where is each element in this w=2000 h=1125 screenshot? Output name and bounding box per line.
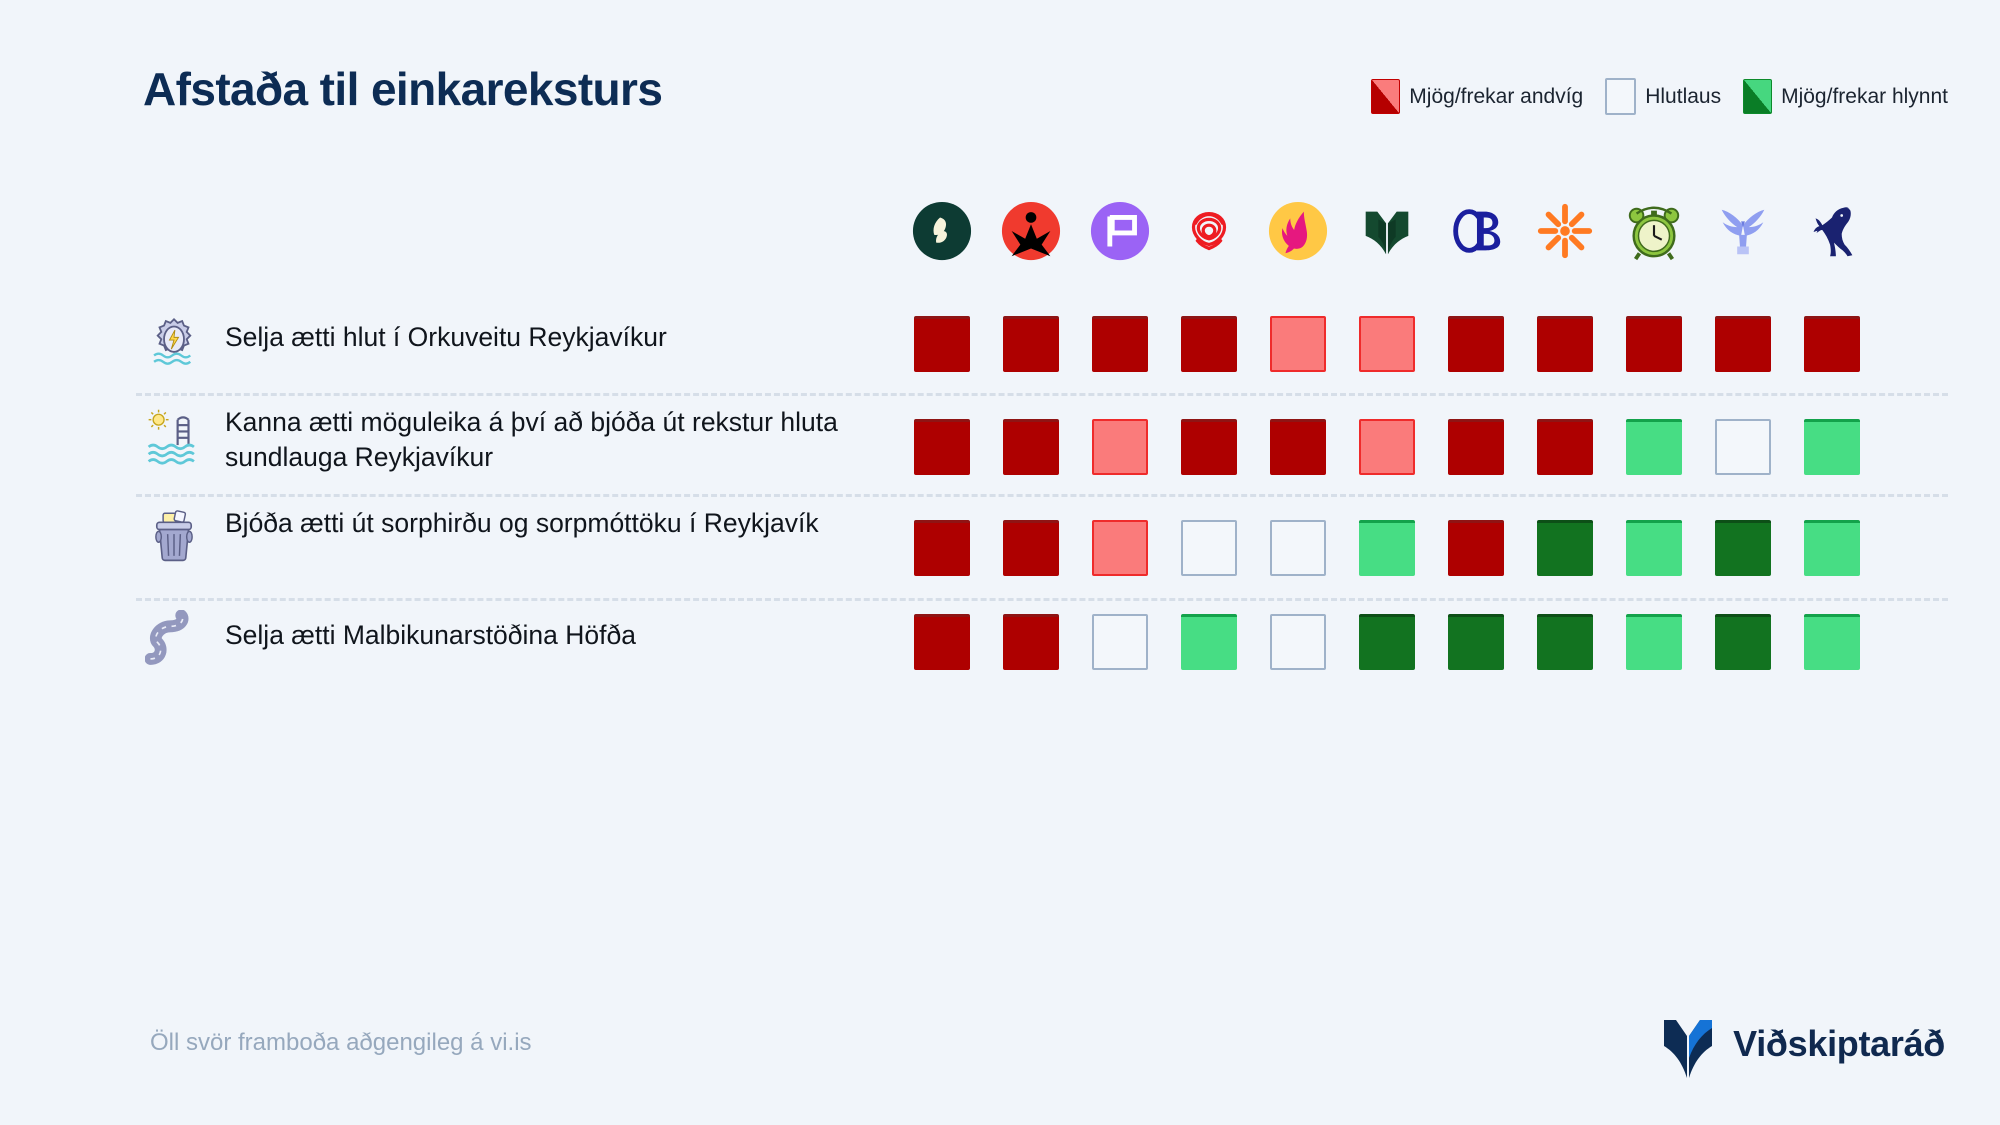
matrix-cell[interactable] [1520,419,1609,475]
stance-swatch [1804,520,1860,576]
stance-swatch [1626,614,1682,670]
party-column-lydraedisflokkurinn [1698,196,1787,266]
matrix-row-label: Selja ætti Malbikunarstöðina Höfða [225,618,865,653]
stance-swatch [1626,316,1682,372]
matrix-cell[interactable] [1787,419,1876,475]
brand-name: Viðskiptaráð [1733,1023,1945,1065]
stance-swatch [1715,316,1771,372]
footer-note: Öll svör framboða aðgengileg á vi.is [150,1029,532,1057]
party-column-abyrg-framtid [1431,196,1520,266]
stance-swatch [1092,316,1148,372]
flag-in-purple-circle-logo [1089,200,1151,262]
matrix-cell[interactable] [1698,419,1787,475]
legend-swatch-for-icon [1743,79,1772,114]
stance-swatch [1715,614,1771,670]
star-person-in-red-circle-logo [1000,200,1062,262]
stance-swatch [1181,614,1237,670]
winding-road-icon [143,610,205,675]
matrix-cell[interactable] [1164,316,1253,372]
stance-swatch [1537,614,1593,670]
legend-swatch-neutral-icon [1605,78,1636,115]
party-column-sjalfstaedisflokkurinn [1609,196,1698,266]
stance-swatch [1359,419,1415,475]
matrix-cell[interactable] [1787,316,1876,372]
stance-swatch [914,614,970,670]
stance-swatch [1270,614,1326,670]
red-rose-logo [1178,200,1240,262]
stance-swatch [1715,520,1771,576]
stance-swatch [1448,316,1504,372]
matrix-row-label: Selja ætti hlut í Orkuveitu Reykjavíkur [225,320,865,355]
stance-swatch [1092,614,1148,670]
party-column-samfylkingin [1164,196,1253,266]
matrix-cell[interactable] [1609,614,1698,670]
dark-green-open-book-logo [1356,200,1418,262]
legend-item-against: Mjög/frekar andvíg [1371,79,1583,114]
stance-swatch [1626,520,1682,576]
stance-swatch [1003,520,1059,576]
matrix-cell[interactable] [1075,520,1164,576]
legend-label-for: Mjög/frekar hlynnt [1781,85,1948,109]
stance-swatch [1092,520,1148,576]
matrix-cell[interactable] [1075,419,1164,475]
matrix-cell[interactable] [986,614,1075,670]
party-column-vidreisn [1342,196,1431,266]
hydro-power-plant-icon [143,312,205,377]
matrix-cell[interactable] [1431,520,1520,576]
matrix-cell[interactable] [1431,316,1520,372]
header: Afstaða til einkareksturs Mjög/frekar an… [0,0,2000,150]
matrix-cell[interactable] [1431,419,1520,475]
legend-label-neutral: Hlutlaus [1645,85,1721,109]
matrix-cell[interactable] [1253,614,1342,670]
matrix-cell[interactable] [1342,614,1431,670]
party-column-vinstri-graen [897,196,986,266]
swimming-pool-icon [143,407,205,472]
matrix-cell[interactable] [1342,316,1431,372]
stance-swatch [1270,316,1326,372]
matrix-cell[interactable] [1520,520,1609,576]
stance-swatch [1804,419,1860,475]
matrix-cell[interactable] [897,419,986,475]
matrix-row-label: Kanna ætti möguleika á því að bjóða út r… [225,405,865,475]
matrix-cell[interactable] [897,614,986,670]
party-column-framsokn [1520,196,1609,266]
matrix-row-swatches [897,419,1876,475]
party-column-flokkur-folksins [1253,196,1342,266]
stance-swatch [1448,419,1504,475]
navy-rearing-horse-logo [1801,200,1863,262]
matrix-cell[interactable] [897,520,986,576]
matrix-cell[interactable] [1431,614,1520,670]
stance-swatch [1181,316,1237,372]
row-divider [136,393,1948,398]
stance-swatch [1537,316,1593,372]
stance-swatch [1537,520,1593,576]
matrix-cell[interactable] [1698,520,1787,576]
vidskiptarad-leaf-icon [1658,1008,1718,1080]
matrix-cell[interactable] [1075,614,1164,670]
matrix-cell[interactable] [1520,614,1609,670]
stance-swatch [1804,316,1860,372]
matrix-row-label: Bjóða ætti út sorphirðu og sorpmóttöku í… [225,506,865,541]
stance-swatch [1537,419,1593,475]
legend-swatch-against-icon [1371,79,1400,114]
legend-item-neutral: Hlutlaus [1605,78,1721,115]
stance-swatch [1003,419,1059,475]
matrix-cell[interactable] [1787,614,1876,670]
matrix-cell[interactable] [1164,520,1253,576]
legend: Mjög/frekar andvíg Hlutlaus Mjög/frekar … [1371,78,1948,115]
blue-falcon-logo [1712,200,1774,262]
matrix-cell[interactable] [1164,419,1253,475]
matrix-row-swatches [897,614,1876,670]
matrix-cell[interactable] [986,520,1075,576]
party-column-sosialistaflokkurinn [986,196,1075,266]
trash-bin-icon [143,506,205,571]
leaf-in-dark-green-circle-logo [911,200,973,262]
matrix-cell[interactable] [1342,419,1431,475]
matrix-cell[interactable] [1075,316,1164,372]
matrix-cell[interactable] [1253,520,1342,576]
matrix-cell[interactable] [986,419,1075,475]
matrix-cell[interactable] [1520,316,1609,372]
matrix-cell[interactable] [1609,419,1698,475]
stance-swatch [1270,520,1326,576]
stance-swatch [914,419,970,475]
stance-swatch [1270,419,1326,475]
stance-swatch [1448,614,1504,670]
matrix-cell[interactable] [1253,419,1342,475]
stance-swatch [1359,520,1415,576]
stance-swatch [1715,419,1771,475]
matrix-cell[interactable] [1253,316,1342,372]
stance-swatch [1448,520,1504,576]
brand-logo: Viðskiptaráð [1658,1008,1945,1080]
navy-ob-monogram-logo [1445,200,1507,262]
stance-swatch [1003,316,1059,372]
stance-swatch [914,520,970,576]
matrix-cell[interactable] [986,316,1075,372]
legend-label-against: Mjög/frekar andvíg [1409,85,1583,109]
stance-swatch [1181,520,1237,576]
stance-swatch [1092,419,1148,475]
party-column-piratar [1075,196,1164,266]
stance-swatch [1359,316,1415,372]
matrix-row-swatches [897,520,1876,576]
green-alarm-clock-logo [1623,200,1685,262]
stance-swatch [1359,614,1415,670]
orange-asterisk-logo [1534,200,1596,262]
matrix-cell[interactable] [1609,316,1698,372]
party-header-row [897,196,1876,266]
matrix-cell[interactable] [1698,316,1787,372]
page-title: Afstaða til einkareksturs [143,62,662,116]
party-column-midflokkurinn [1787,196,1876,266]
stance-swatch [914,316,970,372]
matrix-cell[interactable] [1787,520,1876,576]
matrix-cell[interactable] [1342,520,1431,576]
row-divider [136,598,1948,603]
pink-bird-in-yellow-circle-logo [1267,200,1329,262]
matrix-cell[interactable] [1609,520,1698,576]
stance-swatch [1804,614,1860,670]
matrix-row-swatches [897,316,1876,372]
row-divider [136,494,1948,499]
matrix-cell[interactable] [1164,614,1253,670]
legend-item-for: Mjög/frekar hlynnt [1743,79,1948,114]
stance-swatch [1626,419,1682,475]
stance-swatch [1003,614,1059,670]
matrix-cell[interactable] [897,316,986,372]
stance-swatch [1181,419,1237,475]
matrix-cell[interactable] [1698,614,1787,670]
